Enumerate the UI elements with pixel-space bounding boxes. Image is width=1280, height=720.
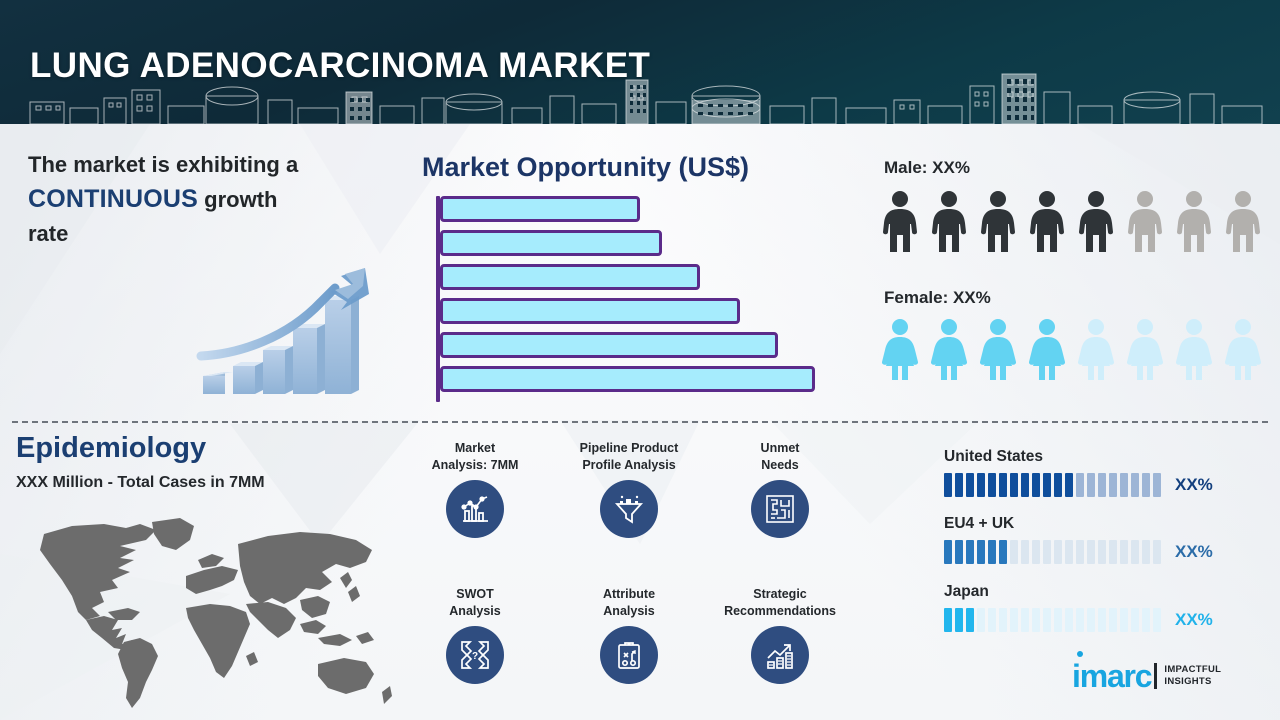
maze-icon (751, 480, 809, 538)
bar-segment (1043, 608, 1051, 632)
male-pictogram-row (880, 190, 1263, 254)
bar-segment (988, 608, 996, 632)
bar-segment (1098, 473, 1106, 497)
bar-segment (1032, 540, 1040, 564)
male-person-icon (1174, 190, 1214, 254)
imarc-logo[interactable]: imarc IMPACTFUL INSIGHTS (1072, 660, 1221, 692)
icon-cell-pipeline-product[interactable]: Pipeline Product Profile Analysis (554, 440, 704, 538)
male-person-icon (1223, 190, 1263, 254)
female-person-icon (880, 318, 920, 382)
bar-segment (944, 608, 952, 632)
bar-segment (1076, 540, 1084, 564)
bar-segment (1032, 608, 1040, 632)
female-person-icon (1223, 318, 1263, 382)
chart-bar (440, 298, 740, 324)
bar-segment (1021, 473, 1029, 497)
bar-segment (1021, 608, 1029, 632)
country-block-japan: Japan XX% (944, 583, 1280, 632)
logo-tagline-2: INSIGHTS (1164, 676, 1221, 688)
icon-cell-swot-analysis[interactable]: SWOT Analysis ? (400, 586, 550, 684)
bar-segment (1153, 608, 1161, 632)
country-name: EU4 + UK (944, 515, 1280, 533)
bar-segment (1065, 608, 1073, 632)
icon-cell-unmet-needs[interactable]: Unmet Needs (705, 440, 855, 538)
male-label: Male: XX% (884, 158, 970, 178)
bar-segment (1131, 608, 1139, 632)
chart-bar (440, 196, 640, 222)
bar-segment (1153, 540, 1161, 564)
bar-segment (988, 540, 996, 564)
bar-segment (977, 473, 985, 497)
bar-segment (1142, 540, 1150, 564)
chart-bar (440, 230, 662, 256)
male-person-icon (880, 190, 920, 254)
swot-arrows-question-icon: ? (446, 626, 504, 684)
intro-text-block: The market is exhibiting a CONTINUOUS gr… (28, 148, 388, 251)
bar-segment (1098, 608, 1106, 632)
growth-chart-arrow-icon (751, 626, 809, 684)
bar-segment (1120, 540, 1128, 564)
female-person-icon (1076, 318, 1116, 382)
intro-tail: growth (198, 187, 277, 212)
bar-segment (1065, 540, 1073, 564)
bar-segment (977, 540, 985, 564)
funnel-icon (600, 480, 658, 538)
country-percent: XX% (1175, 542, 1213, 562)
bar-segment (999, 540, 1007, 564)
bar-segment (966, 473, 974, 497)
bar-segment (1131, 540, 1139, 564)
bar-segment (955, 540, 963, 564)
chart-bar (440, 332, 778, 358)
bar-segment (999, 473, 1007, 497)
icon-cell-market-analysis[interactable]: Market Analysis: 7MM (400, 440, 550, 538)
bar-segment (1098, 540, 1106, 564)
bar-segment (1076, 473, 1084, 497)
bar-segment (1109, 540, 1117, 564)
female-person-icon (1125, 318, 1165, 382)
intro-line-1: The market is exhibiting a (28, 148, 388, 181)
country-block-eu4-uk: EU4 + UK XX% (944, 515, 1280, 564)
female-pictogram-row (880, 318, 1263, 382)
logo-tagline-1: IMPACTFUL (1164, 664, 1221, 676)
intro-line-3: rate (28, 217, 388, 250)
male-person-icon (978, 190, 1018, 254)
bar-chart-line-icon (446, 480, 504, 538)
bar-segment (1054, 540, 1062, 564)
female-person-icon (1174, 318, 1214, 382)
male-person-icon (1027, 190, 1067, 254)
bar-segment (1120, 473, 1128, 497)
bar-segment (1076, 608, 1084, 632)
country-percent: XX% (1175, 610, 1213, 630)
svg-text:?: ? (472, 651, 478, 662)
section-divider (12, 421, 1268, 423)
bar-segment (1131, 473, 1139, 497)
bar-segment (1109, 473, 1117, 497)
icon-label: Unmet Needs (705, 440, 855, 473)
male-person-icon (929, 190, 969, 254)
country-block-united-states: United States XX% (944, 448, 1280, 497)
logo-tagline: IMPACTFUL INSIGHTS (1164, 664, 1221, 688)
country-name: Japan (944, 583, 1280, 601)
bar-segment (1087, 473, 1095, 497)
icon-label: Pipeline Product Profile Analysis (554, 440, 704, 473)
bar-segment (1109, 608, 1117, 632)
bar-segment (1010, 540, 1018, 564)
logo-text: imarc (1072, 658, 1151, 694)
icon-label: SWOT Analysis (400, 586, 550, 619)
country-segment-bar (944, 540, 1161, 564)
icon-cell-attribute-analysis[interactable]: Attribute Analysis (554, 586, 704, 684)
icon-cell-strategic-recommendations[interactable]: Strategic Recommendations (705, 586, 855, 684)
bar-segment (977, 608, 985, 632)
bar-segment (1054, 473, 1062, 497)
bar-segment (1120, 608, 1128, 632)
bar-segment (1087, 540, 1095, 564)
chart-bar (440, 366, 815, 392)
infographic-page: LUNG ADENOCARCINOMA MARKET The market is… (0, 0, 1280, 720)
bar-segment (966, 540, 974, 564)
bar-segment (1032, 473, 1040, 497)
logo-wordmark: imarc (1072, 660, 1151, 692)
country-name: United States (944, 448, 1280, 466)
bar-segment (1142, 608, 1150, 632)
bar-segment (1065, 473, 1073, 497)
country-segment-bar (944, 473, 1161, 497)
bar-segment (1043, 473, 1051, 497)
bar-segment (1010, 608, 1018, 632)
female-label: Female: XX% (884, 288, 991, 308)
icon-label: Market Analysis: 7MM (400, 440, 550, 473)
chart-bar (440, 264, 700, 290)
bar-segment (1153, 473, 1161, 497)
epidemiology-title: Epidemiology (16, 432, 206, 465)
bar-segment (1054, 608, 1062, 632)
icon-label: Attribute Analysis (554, 586, 704, 619)
bar-segment (966, 608, 974, 632)
epidemiology-subtitle: XXX Million - Total Cases in 7MM (16, 474, 265, 492)
bar-segment (1043, 540, 1051, 564)
female-person-icon (929, 318, 969, 382)
bar-segment (1021, 540, 1029, 564)
bar-segment (955, 608, 963, 632)
logo-dot-icon (1077, 651, 1083, 657)
icon-label: Strategic Recommendations (705, 586, 855, 619)
market-opportunity-chart (436, 196, 836, 402)
country-percent: XX% (1175, 475, 1213, 495)
header-banner: LUNG ADENOCARCINOMA MARKET (0, 0, 1280, 124)
male-person-icon (1076, 190, 1116, 254)
bar-segment (1010, 473, 1018, 497)
bar-segment (1142, 473, 1150, 497)
rising-bar-chart-arrow-icon (195, 258, 390, 398)
logo-divider (1154, 663, 1157, 689)
female-person-icon (1027, 318, 1067, 382)
market-opportunity-title: Market Opportunity (US$) (422, 152, 749, 183)
bar-segment (999, 608, 1007, 632)
world-map-icon (0, 516, 420, 716)
clipboard-strategy-icon (600, 626, 658, 684)
bar-segment (944, 540, 952, 564)
bar-segment (988, 473, 996, 497)
bar-segment (955, 473, 963, 497)
male-person-icon (1125, 190, 1165, 254)
page-title: LUNG ADENOCARCINOMA MARKET (30, 46, 650, 86)
intro-emphasis: CONTINUOUS (28, 185, 198, 213)
female-person-icon (978, 318, 1018, 382)
bar-segment (1087, 608, 1095, 632)
bar-segment (944, 473, 952, 497)
country-segment-bar (944, 608, 1161, 632)
